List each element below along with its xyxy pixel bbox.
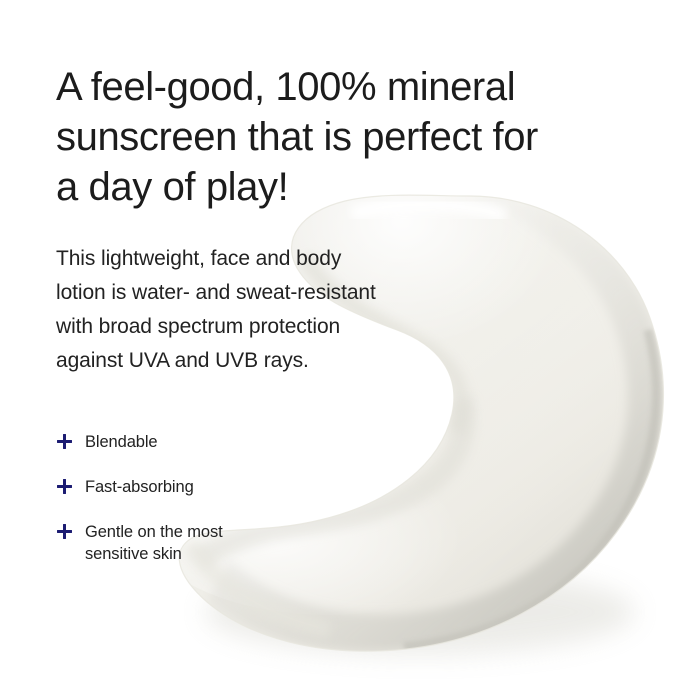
- plus-icon: [56, 431, 74, 453]
- benefit-label: Fast-absorbing: [85, 476, 194, 498]
- product-feature-panel: A feel-good, 100% mineral sunscreen that…: [0, 0, 679, 679]
- list-item: Fast-absorbing: [56, 476, 356, 498]
- text-column: A feel-good, 100% mineral sunscreen that…: [56, 62, 616, 565]
- plus-icon: [56, 476, 74, 498]
- list-item: Blendable: [56, 431, 356, 453]
- swoosh-drop-shadow: [205, 570, 635, 654]
- benefit-label: Blendable: [85, 431, 158, 453]
- page-title: A feel-good, 100% mineral sunscreen that…: [56, 62, 576, 212]
- benefit-label: Gentle on the most sensitive skin: [85, 521, 223, 565]
- benefit-list: Blendable Fast-absorbing Gentle on the m…: [56, 378, 356, 565]
- plus-icon: [56, 521, 74, 543]
- product-description: This lightweight, face and body lotion i…: [56, 212, 456, 378]
- list-item: Gentle on the most sensitive skin: [56, 521, 356, 565]
